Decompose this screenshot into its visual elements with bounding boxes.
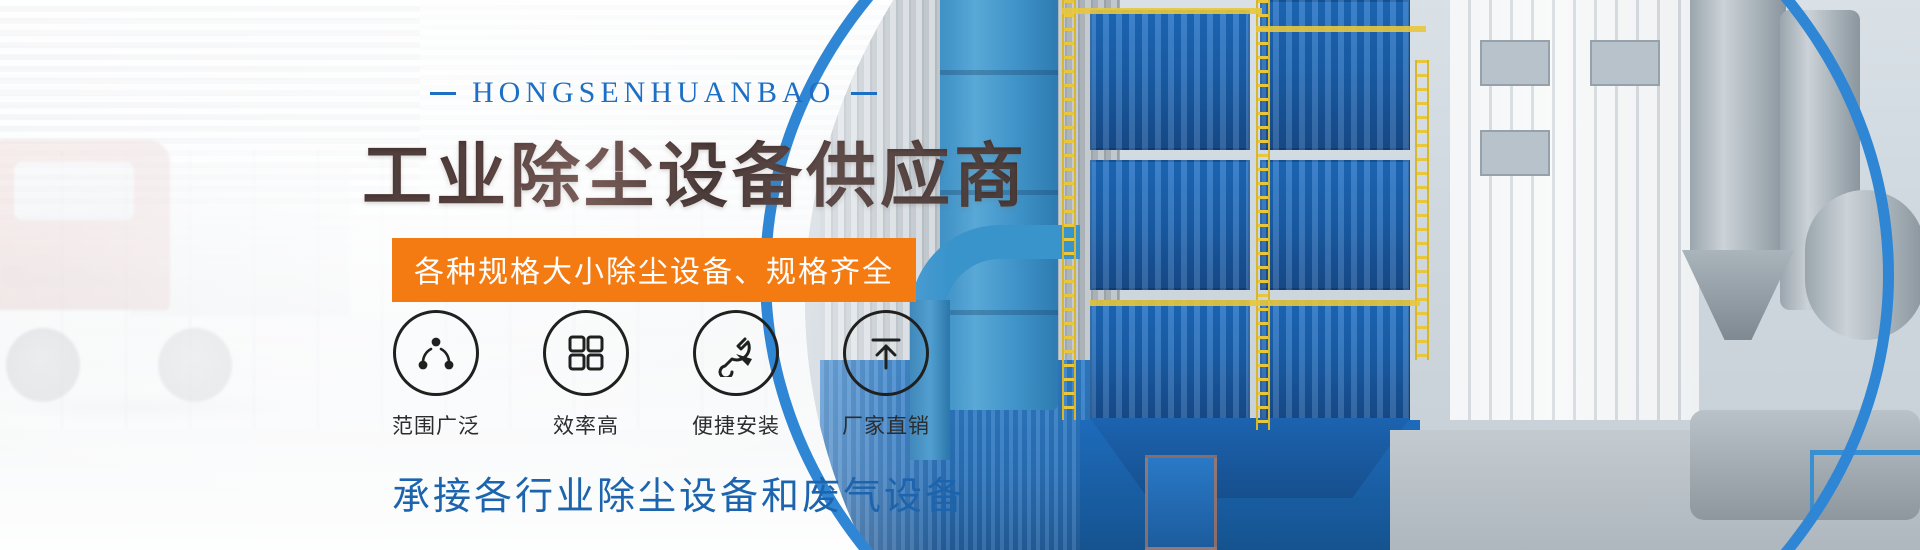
banner-content: HONGSENHUANBAO 工业除尘设备供应商 各种规格大小除尘设备、规格齐全… bbox=[0, 0, 1000, 550]
up-arrow-icon bbox=[864, 331, 908, 375]
brand-eyebrow: HONGSENHUANBAO bbox=[430, 76, 877, 110]
dash-right-icon bbox=[851, 92, 877, 95]
feature-item[interactable]: 厂家直销 bbox=[842, 310, 930, 440]
subheadline-bar: 各种规格大小除尘设备、规格齐全 bbox=[392, 238, 916, 302]
feature-item[interactable]: 便捷安装 bbox=[692, 310, 780, 440]
feature-item[interactable]: 范围广泛 bbox=[392, 310, 480, 440]
feature-label: 效率高 bbox=[553, 410, 619, 440]
hero-banner: HONGSENHUANBAO 工业除尘设备供应商 各种规格大小除尘设备、规格齐全… bbox=[0, 0, 1920, 550]
share-network-icon bbox=[412, 329, 460, 377]
tagline: 承接各行业除尘设备和废气设备 bbox=[392, 465, 966, 520]
feature-label: 范围广泛 bbox=[392, 410, 480, 440]
feature-item[interactable]: 效率高 bbox=[542, 310, 630, 440]
feature-label: 厂家直销 bbox=[842, 410, 930, 440]
feature-list: 范围广泛 效率高 bbox=[392, 310, 930, 440]
feature-label: 便捷安装 bbox=[692, 410, 780, 440]
feature-icon-circle bbox=[543, 310, 629, 396]
headline: 工业除尘设备供应商 bbox=[362, 120, 1028, 221]
feature-icon-circle bbox=[843, 310, 929, 396]
brand-eyebrow-text: HONGSENHUANBAO bbox=[472, 76, 835, 110]
feature-icon-circle bbox=[693, 310, 779, 396]
dash-left-icon bbox=[430, 92, 456, 95]
feature-icon-circle bbox=[393, 310, 479, 396]
grid-squares-icon bbox=[563, 330, 609, 376]
wrench-icon bbox=[712, 329, 760, 377]
